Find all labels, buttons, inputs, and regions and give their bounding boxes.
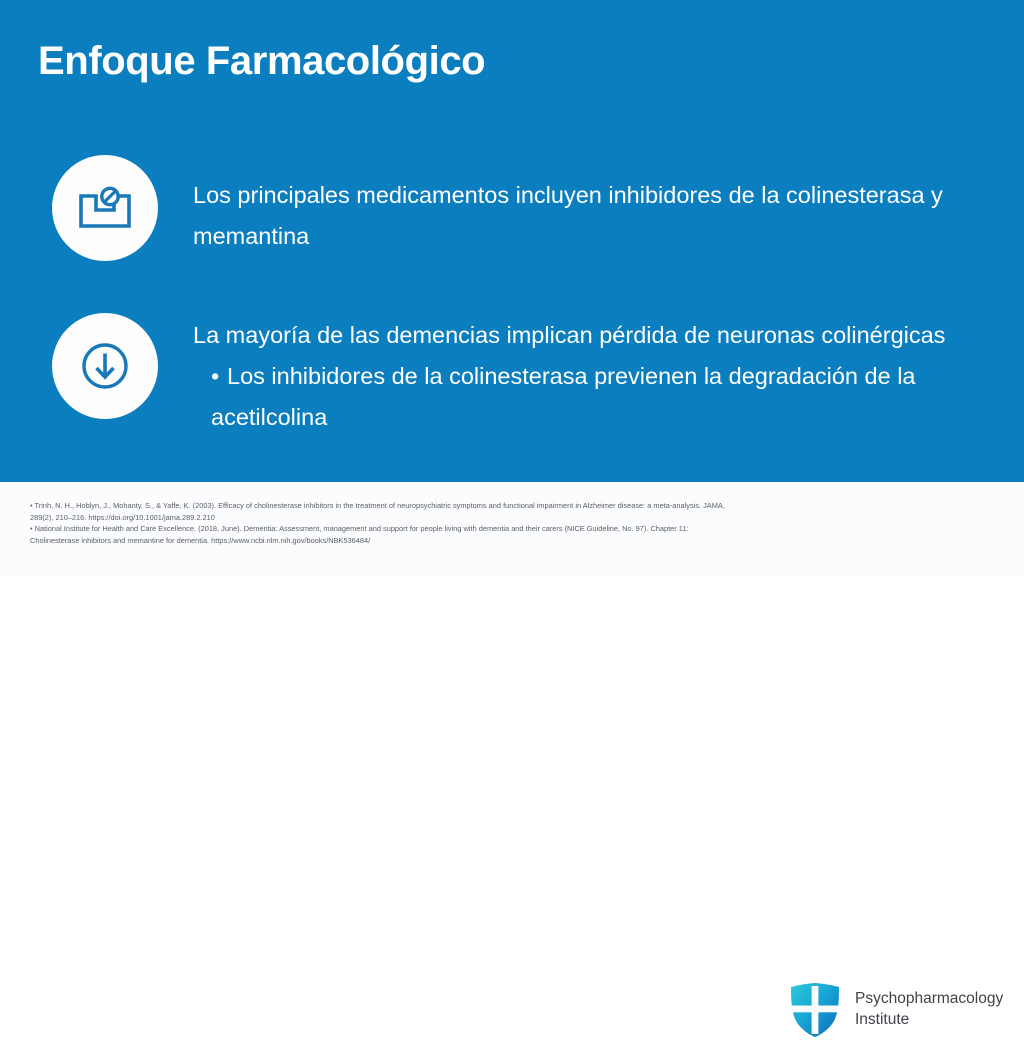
sub-bullet-text: Los inhibidores de la colinesterasa prev… xyxy=(211,363,916,430)
slide-body-panel: Enfoque Farmacológico Los principales me… xyxy=(0,0,1024,482)
bullet-text-group: La mayoría de las demencias implican pér… xyxy=(193,315,1013,438)
slide: Enfoque Farmacológico Los principales me… xyxy=(0,0,1024,576)
brand-name-line1: Psychopharmacology xyxy=(855,988,1005,1009)
brand-logo: Psychopharmacology Institute xyxy=(788,980,1003,1042)
shield-cross-icon xyxy=(788,982,842,1038)
page-title: Enfoque Farmacológico xyxy=(38,38,938,84)
brand-logo-text: Psychopharmacology Institute xyxy=(855,988,1005,1030)
sub-bullet-item: •Los inhibidores de la colinesterasa pre… xyxy=(193,356,1013,438)
reference-item: • Trinh, N. H., Hoblyn, J., Mohanty, S.,… xyxy=(30,500,735,523)
sub-bullet-marker: • xyxy=(211,356,227,397)
bullet-text: La mayoría de las demencias implican pér… xyxy=(193,322,945,348)
brand-name-line2: Institute xyxy=(855,1009,1005,1030)
footer: • Trinh, N. H., Hoblyn, J., Mohanty, S.,… xyxy=(0,482,1024,576)
bullet-text: Los principales medicamentos incluyen in… xyxy=(193,175,1013,257)
reference-item: • National Institute for Health and Care… xyxy=(30,523,735,546)
icon-circle-pill-tray xyxy=(52,155,158,261)
references-block: • Trinh, N. H., Hoblyn, J., Mohanty, S.,… xyxy=(30,500,735,546)
icon-circle-arrow-down xyxy=(52,313,158,419)
